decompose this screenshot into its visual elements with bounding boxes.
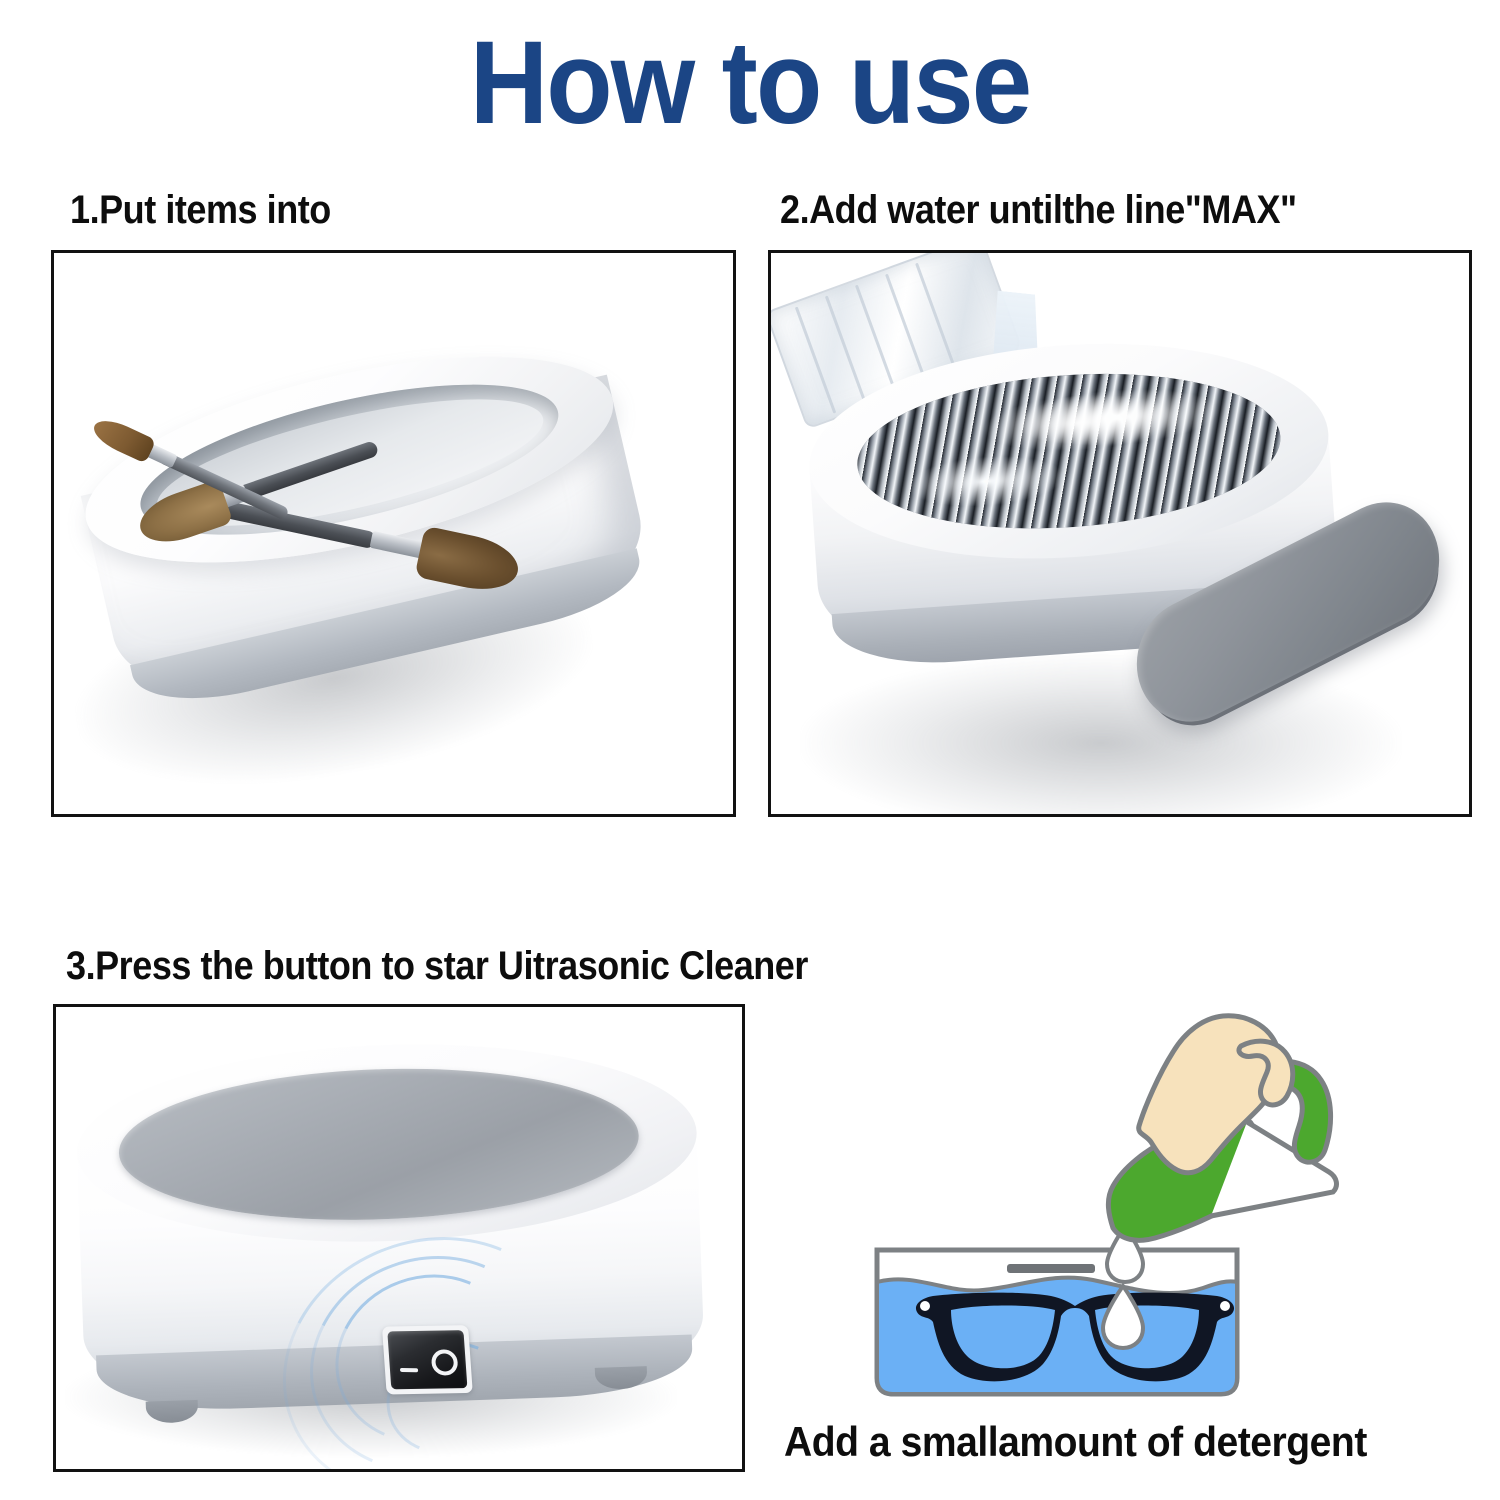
page-title: How to use (60, 24, 1440, 142)
max-line-marker (1007, 1264, 1095, 1273)
brush-bristles (89, 414, 156, 464)
how-to-use-infographic: How to use 1.Put items into (0, 0, 1500, 1500)
step-1-caption: 1.Put items into (70, 188, 331, 233)
scene-press-button (56, 1007, 742, 1469)
step-2-caption: 2.Add water untilthe line"MAX" (780, 188, 1297, 233)
scene-put-items-into (54, 253, 733, 814)
photo-panel-step-2 (768, 250, 1472, 817)
cleaner-foot (146, 1400, 199, 1424)
step-3-caption: 3.Press the button to star Uitrasonic Cl… (66, 944, 808, 989)
detergent-caption: Add a smallamount of detergent (784, 1418, 1367, 1466)
switch-on-icon (400, 1368, 418, 1372)
detergent-illustration (855, 1010, 1475, 1410)
photo-panel-step-1 (51, 250, 736, 817)
scene-add-water (771, 253, 1469, 814)
ultrasonic-cleaner-closed (74, 1034, 707, 1435)
ultrasonic-cleaner-open (67, 316, 661, 730)
power-switch[interactable] (382, 1325, 473, 1394)
photo-panel-step-3 (53, 1004, 745, 1472)
